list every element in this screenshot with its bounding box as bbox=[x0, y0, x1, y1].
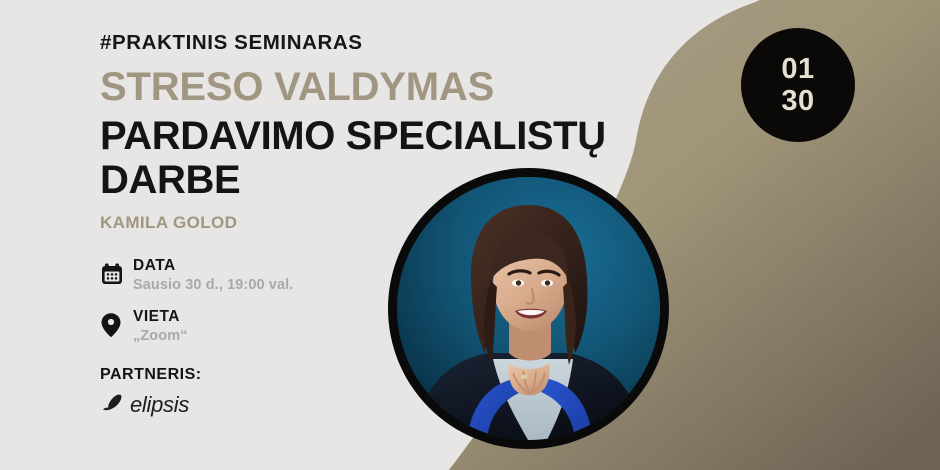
speaker-portrait bbox=[388, 168, 669, 449]
info-value-date: Sausio 30 d., 19:00 val. bbox=[133, 277, 293, 294]
calendar-icon bbox=[100, 257, 130, 289]
date-badge-day: 30 bbox=[781, 86, 814, 116]
info-text-date: DATA Sausio 30 d., 19:00 val. bbox=[130, 257, 293, 294]
info-value-location: „Zoom“ bbox=[133, 328, 188, 345]
partner-name: elipsis bbox=[130, 392, 189, 418]
location-pin-icon bbox=[100, 308, 130, 340]
title-dark-line: PARDAVIMO SPECIALISTŲ DARBE bbox=[100, 114, 700, 204]
event-banner: #PRAKTINIS SEMINARAS STRESO VALDYMAS PAR… bbox=[0, 0, 940, 470]
info-label-date: DATA bbox=[133, 257, 293, 275]
title-gold-line: STRESO VALDYMAS bbox=[100, 66, 700, 108]
hashtag-label: #PRAKTINIS SEMINARAS bbox=[100, 32, 700, 55]
elipsis-swoosh-icon bbox=[100, 392, 126, 419]
date-badge: 01 30 bbox=[741, 28, 855, 142]
date-badge-month: 01 bbox=[781, 54, 814, 84]
speaker-portrait-image bbox=[397, 177, 660, 440]
info-text-location: VIETA „Zoom“ bbox=[130, 308, 188, 345]
info-label-location: VIETA bbox=[133, 308, 188, 326]
